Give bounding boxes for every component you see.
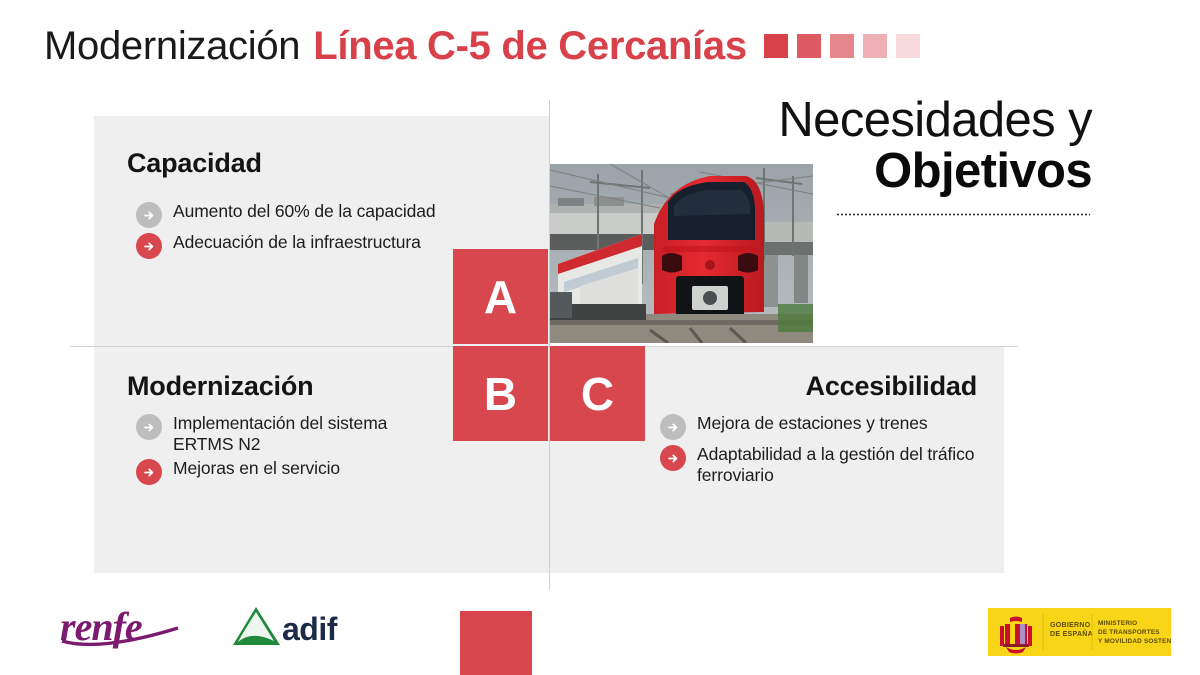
arrow-circle-red-icon [136, 459, 162, 485]
list-item: Implementación del sistema ERTMS N2 [136, 412, 436, 454]
title-square-decoration [764, 34, 920, 58]
svg-text:adif: adif [282, 611, 338, 647]
gobierno-de-espana-logo: GOBIERNO DE ESPAÑA MINISTERIO DE TRANSPO… [988, 608, 1171, 656]
letter-block-c: C [550, 346, 645, 441]
svg-text:GOBIERNO: GOBIERNO [1050, 622, 1091, 629]
list-item: Adecuación de la infraestructura [136, 231, 436, 259]
list-item-label: Aumento del 60% de la capacidad [173, 200, 436, 222]
dotted-underline [836, 213, 1090, 216]
arrow-circle-grey-icon [136, 202, 162, 228]
footer-red-square [460, 611, 532, 675]
list-item-label: Adaptabilidad a la gestión del tráfico f… [697, 443, 990, 485]
letter-block-b: B [453, 346, 548, 441]
svg-text:DE TRANSPORTES: DE TRANSPORTES [1098, 629, 1160, 636]
arrow-circle-grey-icon [136, 414, 162, 440]
svg-text:Y MOVILIDAD SOSTENIBLE: Y MOVILIDAD SOSTENIBLE [1098, 638, 1171, 645]
heading-accesibilidad: Accesibilidad [640, 373, 977, 400]
arrow-circle-red-icon [136, 233, 162, 259]
list-item-label: Adecuación de la infraestructura [173, 231, 421, 253]
right-heading-line2: Objetivos [700, 146, 1092, 197]
heading-capacidad: Capacidad [127, 150, 262, 177]
decor-square-5 [896, 34, 920, 58]
title-main-text: Modernización [44, 26, 300, 66]
arrow-circle-grey-icon [660, 414, 686, 440]
bullet-list-capacidad: Aumento del 60% de la capacidad Adecuaci… [136, 200, 436, 262]
right-heading: Necesidades y Objetivos [700, 96, 1092, 197]
list-item: Aumento del 60% de la capacidad [136, 200, 436, 228]
slide-title: Modernización Línea C-5 de Cercanías [44, 26, 920, 66]
heading-modernizacion: Modernización [127, 373, 313, 400]
slide-root: Modernización Línea C-5 de Cercanías Cap… [0, 0, 1200, 675]
right-heading-line1: Necesidades y [700, 96, 1092, 146]
decor-square-4 [863, 34, 887, 58]
list-item-label: Implementación del sistema ERTMS N2 [173, 412, 436, 454]
list-item: Mejora de estaciones y trenes [660, 412, 990, 440]
decor-square-1 [764, 34, 788, 58]
letter-block-a: A [453, 249, 548, 344]
svg-text:DE ESPAÑA: DE ESPAÑA [1050, 629, 1093, 638]
arrow-circle-red-icon [660, 445, 686, 471]
renfe-logo: renfe [60, 600, 192, 656]
list-item: Adaptabilidad a la gestión del tráfico f… [660, 443, 990, 485]
bullet-list-modernizacion: Implementación del sistema ERTMS N2 Mejo… [136, 412, 436, 488]
list-item-label: Mejora de estaciones y trenes [697, 412, 928, 434]
list-item-label: Mejoras en el servicio [173, 457, 340, 479]
svg-text:MINISTERIO: MINISTERIO [1098, 620, 1137, 627]
list-item: Mejoras en el servicio [136, 457, 436, 485]
title-accent-text: Línea C-5 de Cercanías [313, 26, 747, 66]
adif-logo: adif [226, 604, 360, 652]
decor-square-3 [830, 34, 854, 58]
bullet-list-accesibilidad: Mejora de estaciones y trenes Adaptabili… [660, 412, 990, 488]
decor-square-2 [797, 34, 821, 58]
